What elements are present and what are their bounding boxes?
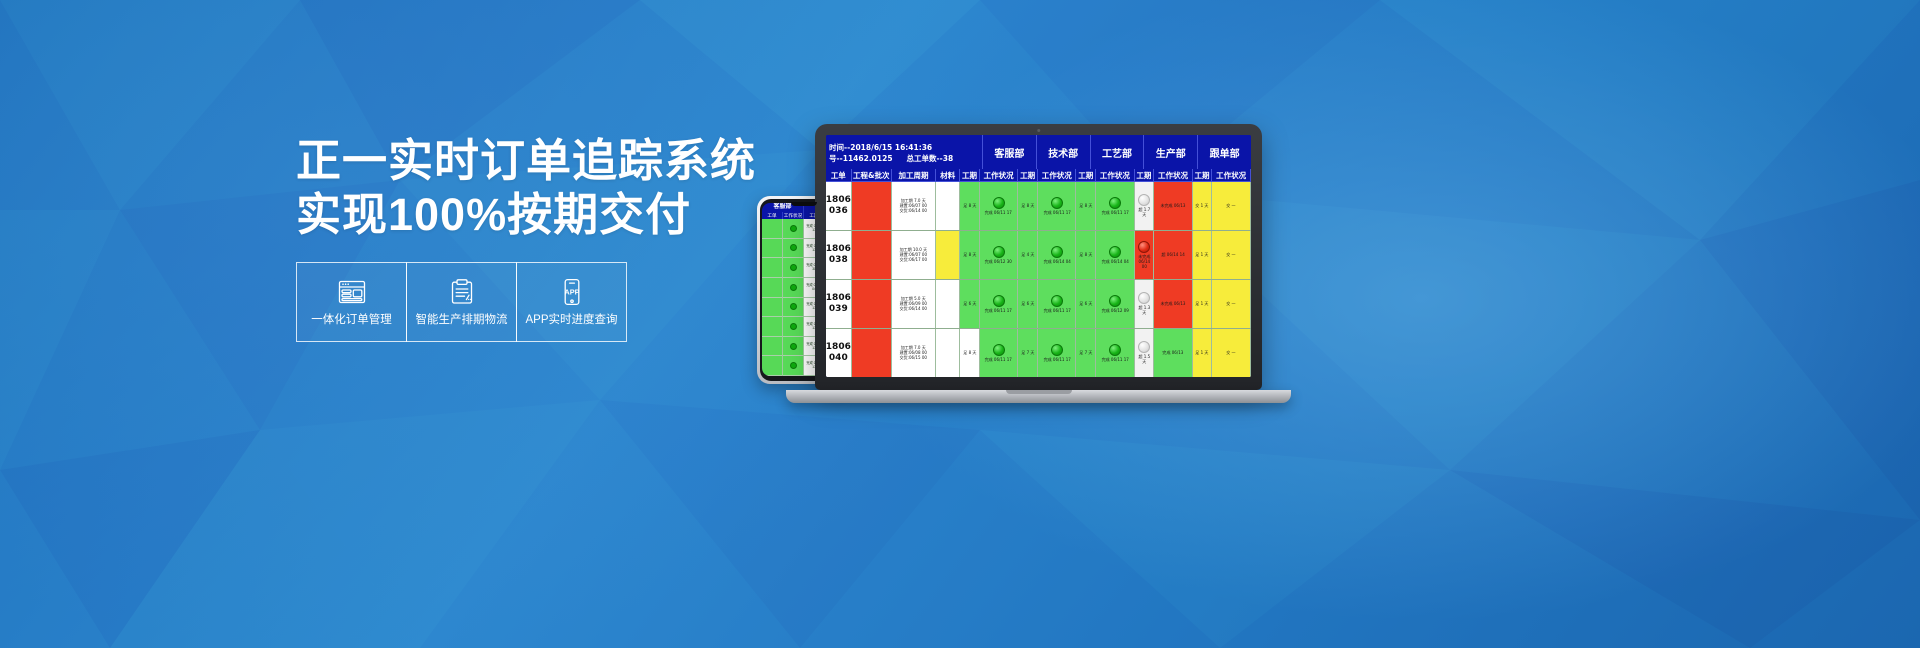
cell-content: 超 1.5 天 [1136,341,1153,364]
cell-material [936,182,960,230]
cell-content: 足 8 天 [961,350,978,355]
cell-dept-2: 足 6 天 [1018,280,1038,328]
phone-cell [762,317,782,337]
phone-column-order [762,219,783,376]
order-number: 1806 036 [826,195,851,217]
table-row[interactable]: 1806 036加工期 7.0 天 建置:06/07 00 交货:06/14 0… [826,182,1251,231]
cell-dept-2: 足 7 天 [1018,329,1038,377]
cell-dept-3: 完成 06/11 17 [1038,280,1076,328]
headline-line-2: 实现100%按期交付 [296,188,716,242]
cell-project-batch [852,280,892,328]
cell-material [936,231,960,279]
dashboard-subheader-13[interactable]: 工作状况 [1212,169,1250,181]
dashboard-subheader-5[interactable]: 工作状况 [980,169,1018,181]
cell-dept-4: 足 8 天 [1076,231,1096,279]
cell-text: 足 8 天 [963,252,976,257]
cell-content: 足 1 天 [1194,350,1211,355]
status-indicator-green [1109,295,1121,307]
cell-project-batch [852,182,892,230]
dashboard-dept-4[interactable]: 跟单部 [1198,135,1251,169]
cell-dept-9: 交 一 [1212,329,1250,377]
status-indicator-red [1138,241,1150,253]
phone-cell [783,219,803,239]
order-number: 1806 040 [826,342,851,364]
cell-dept-6: 超 1.5 天 [1135,329,1155,377]
clipboard-schedule-icon [447,277,477,307]
cell-dept-4: 足 6 天 [1076,280,1096,328]
cell-content: 完成 06/11 17 [1097,344,1132,362]
phone-cell [783,278,803,298]
cell-text: 加工期 10.0 天 建置:06/07 00 交货:06/17 00 [900,247,928,262]
cell-text: 未完成 06/14 00 [1136,254,1152,269]
order-number: 1806 038 [826,244,851,266]
cell-content: 足 4 天 [1019,252,1036,257]
dashboard-subheader-4[interactable]: 工期 [960,169,980,181]
cell-content: 未完成 06/14 00 [1136,241,1153,270]
cell-content: 完成 06/12 09 [1097,295,1132,313]
status-indicator-green [993,344,1005,356]
phone-status-indicator [790,323,797,330]
cell-text: 足 4 天 [1021,252,1034,257]
cell-text: 完成 06/14 04 [1101,259,1128,264]
phone-cell [783,258,803,278]
cell-text: 加工期 5.0 天 建置:06/09 00 交货:06/14 00 [900,296,927,311]
cell-text: 完成 06/11 17 [985,357,1012,362]
feature-card-production-schedule[interactable]: 智能生产排期物流 [406,262,517,342]
cell-order-no: 1806 039 [826,280,852,328]
dashboard-subheader-2[interactable]: 加工周期 [892,169,936,181]
cell-content: 足 7 天 [1019,350,1036,355]
cell-dept-6: 超 1.7 天 [1135,182,1155,230]
cell-cycle: 加工期 10.0 天 建置:06/07 00 交货:06/17 00 [892,231,936,279]
dashboard-subheader-12[interactable]: 工期 [1193,169,1213,181]
cell-text: 完成 06/11 17 [1043,210,1070,215]
cell-text: 足 8 天 [963,350,976,355]
cell-text: 超 1.7 天 [1136,208,1152,218]
cell-content: 足 6 天 [1077,301,1094,306]
cell-content: 完成 06/11 17 [1039,295,1074,313]
cell-dept-1: 完成 06/12 30 [980,231,1018,279]
dashboard-department-row: 客服部 技术部 工艺部 生产部 跟单部 [983,135,1251,169]
cell-project-batch [852,231,892,279]
cell-dept-4: 足 8 天 [1076,182,1096,230]
cell-text: 完成 06/13 [1163,350,1184,355]
promo-banner: 正一实时订单追踪系统 实现100%按期交付 一体化订单管理 [0,0,1920,648]
dashboard-subheader-1[interactable]: 工程&批次 [852,169,892,181]
phone-status-indicator [790,343,797,350]
phone-column-status-a [783,219,804,376]
status-indicator-white [1138,341,1150,353]
status-indicator-green [1051,246,1063,258]
cell-text: 足 7 天 [1021,350,1034,355]
dashboard-table-body: 1806 036加工期 7.0 天 建置:06/07 00 交货:06/14 0… [826,182,1251,377]
feature-card-list: 一体化订单管理 智能生产排期物流 [296,262,627,342]
cell-content: 完成 06/11 17 [981,344,1016,362]
cell-dept-7: 超 06/14 14 [1154,231,1192,279]
cell-dept-7: 未完成 06/13 [1154,280,1192,328]
cell-text: 足 6 天 [963,301,976,306]
cell-dept-3: 完成 06/11 17 [1038,182,1076,230]
cell-text: 完成 06/11 17 [985,210,1012,215]
cell-text: 交 一 [1226,350,1235,355]
cell-dept-3: 完成 06/11 17 [1038,329,1076,377]
dashboard-header: 时间--2018/6/15 16:41:36 号--11462.0125 总工单… [826,135,1251,169]
phone-status-indicator [790,284,797,291]
cell-content: 交 一 [1213,252,1248,257]
webcam-icon [1037,129,1041,133]
dashboard-subheader-7[interactable]: 工作状况 [1038,169,1076,181]
cell-cycle: 加工期 7.0 天 建置:06/07 00 交货:06/14 00 [892,182,936,230]
dashboard-time-label: 时间--2018/6/15 16:41:36 [829,142,982,153]
dashboard-subheader-row: 工单工程&批次加工周期材料工期工作状况工期工作状况工期工作状况工期工作状况工期工… [826,169,1251,182]
cell-dept-8: 足 1 天 [1193,280,1213,328]
cell-dept-5: 完成 06/11 17 [1096,329,1134,377]
phone-cell [762,278,782,298]
cell-dept-7: 完成 06/13 [1154,329,1192,377]
cell-dept-9: 交 一 [1212,231,1250,279]
phone-cell [762,239,782,259]
cell-content: 足 8 天 [1077,252,1094,257]
dashboard-dept-2[interactable]: 工艺部 [1091,135,1145,169]
cell-content: 超 1.3 天 [1136,292,1153,315]
cell-content: 交 一 [1213,350,1248,355]
table-row[interactable]: 1806 038加工期 10.0 天 建置:06/07 00 交货:06/17 … [826,231,1251,280]
svg-text:APP: APP [564,288,579,297]
cell-text: 足 8 天 [1021,203,1034,208]
cell-text: 交 一 [1226,203,1235,208]
cell-content: 未完成 06/13 [1155,203,1190,208]
cell-text: 交 一 [1226,252,1235,257]
cell-content: 完成 06/11 17 [1039,344,1074,362]
cell-text: 未完成 06/13 [1161,203,1186,208]
dashboard-total-label: 总工单数--38 [907,153,954,164]
status-indicator-green [993,295,1005,307]
dashboard-subheader-10[interactable]: 工期 [1135,169,1155,181]
cell-text: 完成 06/14 04 [1043,259,1070,264]
cell-content: 完成 06/11 17 [1097,197,1132,215]
cell-content: 足 1 天 [1194,252,1211,257]
phone-cell [783,298,803,318]
phone-notch [791,202,817,206]
feature-label-app-progress: APP实时进度查询 [525,314,617,327]
cell-content: 未完成 06/13 [1155,301,1190,306]
cell-text: 交 一 [1226,301,1235,306]
status-indicator-white [1138,194,1150,206]
cell-cycle: 加工期 7.0 天 建置:06/08 00 交货:06/15 00 [892,329,936,377]
cell-dept-8: 足 1 天 [1193,329,1213,377]
cell-text: 足 6 天 [1021,301,1034,306]
cell-content: 足 8 天 [1077,203,1094,208]
cell-text: 完成 06/12 09 [1101,308,1128,313]
cell-text: 超 06/14 14 [1161,252,1184,257]
cell-dept-0: 足 8 天 [960,231,980,279]
dashboard-subheader-0[interactable]: 工单 [826,169,852,181]
cell-text: 未完成 06/13 [1161,301,1186,306]
cell-content: 足 8 天 [961,252,978,257]
cell-content: 超 1.7 天 [1136,194,1153,217]
cell-content: 足 1 天 [1194,301,1211,306]
dashboard-subheader-6[interactable]: 工期 [1018,169,1038,181]
cell-material [936,329,960,377]
dashboard-subheader-9[interactable]: 工作状况 [1096,169,1134,181]
cell-content: 交 一 [1213,203,1248,208]
cell-dept-5: 完成 06/14 04 [1096,231,1134,279]
status-indicator-green [1109,197,1121,209]
cell-material [936,280,960,328]
cell-content: 足 8 天 [1019,203,1036,208]
cell-content: 交 一 [1213,301,1248,306]
status-indicator-green [1051,295,1063,307]
cell-dept-7: 未完成 06/13 [1154,182,1192,230]
dashboard-subheader-3[interactable]: 材料 [936,169,960,181]
laptop-lid: 时间--2018/6/15 16:41:36 号--11462.0125 总工单… [815,124,1262,390]
dashboard-dept-1[interactable]: 技术部 [1037,135,1091,169]
cell-content: 足 6 天 [961,301,978,306]
status-indicator-green [993,246,1005,258]
table-row[interactable]: 1806 039加工期 5.0 天 建置:06/09 00 交货:06/14 0… [826,280,1251,329]
cell-content: 足 8 天 [961,203,978,208]
cell-dept-8: 足 1 天 [1193,231,1213,279]
feature-card-app-progress[interactable]: APP APP实时进度查询 [516,262,627,342]
cell-text: 完成 06/11 17 [1101,210,1128,215]
cell-dept-2: 足 4 天 [1018,231,1038,279]
phone-cell [783,356,803,376]
status-indicator-green [993,197,1005,209]
cell-order-no: 1806 038 [826,231,852,279]
phone-status-indicator [790,303,797,310]
cell-content: 完成 06/11 17 [981,295,1016,313]
dashboard-dept-3[interactable]: 生产部 [1144,135,1198,169]
status-indicator-green [1051,197,1063,209]
cell-cycle: 加工期 5.0 天 建置:06/09 00 交货:06/14 00 [892,280,936,328]
cell-text: 完成 06/11 17 [1101,357,1128,362]
phone-status-indicator [790,264,797,271]
feature-label-order-management: 一体化订单管理 [311,314,392,327]
cell-dept-0: 足 8 天 [960,182,980,230]
phone-status-indicator [790,225,797,232]
dashboard-subheader-11[interactable]: 工作状况 [1154,169,1192,181]
status-indicator-white [1138,292,1150,304]
cell-content: 完成 06/11 17 [1039,197,1074,215]
cell-text: 足 8 天 [963,203,976,208]
cell-dept-0: 足 6 天 [960,280,980,328]
phone-cell [783,337,803,357]
order-number: 1806 039 [826,293,851,315]
cell-text: 完成 06/11 17 [1043,308,1070,313]
phone-cell [762,356,782,376]
dashboard-layout-icon [337,277,367,307]
cell-order-no: 1806 036 [826,182,852,230]
feature-label-production-schedule: 智能生产排期物流 [416,314,508,327]
phone-cell [762,258,782,278]
dashboard-subheader-8[interactable]: 工期 [1076,169,1096,181]
cell-content: 完成 06/11 17 [981,197,1016,215]
cell-text: 足 1 天 [1195,301,1208,306]
cell-dept-9: 交 一 [1212,280,1250,328]
mobile-app-icon: APP [557,277,587,307]
cell-dept-0: 足 8 天 [960,329,980,377]
cell-text: 超 1.3 天 [1136,306,1152,316]
cell-dept-6: 超 1.3 天 [1135,280,1155,328]
cell-content: 完成 06/14 04 [1097,246,1132,264]
phone-subheader-1: 工作状况 [783,212,804,219]
cell-content: 超 06/14 14 [1155,252,1190,257]
status-indicator-green [1109,246,1121,258]
cell-text: 足 8 天 [1079,252,1092,257]
headline-line-1: 正一实时订单追踪系统 [296,134,716,188]
phone-cell [762,298,782,318]
feature-card-order-management[interactable]: 一体化订单管理 [296,262,407,342]
cell-dept-1: 完成 06/11 17 [980,329,1018,377]
cell-project-batch [852,329,892,377]
phone-cell [762,219,782,239]
phone-cell [783,317,803,337]
cell-order-no: 1806 040 [826,329,852,377]
phone-subheader-0: 工单 [762,212,783,219]
dashboard-meta: 时间--2018/6/15 16:41:36 号--11462.0125 总工单… [826,135,983,169]
cell-text: 足 6 天 [1079,301,1092,306]
cell-dept-8: 交 1 天 [1193,182,1213,230]
cell-text: 加工期 7.0 天 建置:06/07 00 交货:06/14 00 [900,198,927,213]
phone-status-indicator [790,244,797,251]
status-indicator-green [1109,344,1121,356]
cell-dept-3: 完成 06/14 04 [1038,231,1076,279]
cell-dept-6: 未完成 06/14 00 [1135,231,1155,279]
cell-content: 交 1 天 [1194,203,1211,208]
cell-text: 足 1 天 [1195,252,1208,257]
cell-content: 完成 06/14 04 [1039,246,1074,264]
cell-dept-5: 完成 06/11 17 [1096,182,1134,230]
dashboard-number-label: 号--11462.0125 [829,153,893,164]
cell-text: 足 8 天 [1079,203,1092,208]
cell-text: 超 1.5 天 [1136,355,1152,365]
cell-dept-1: 完成 06/11 17 [980,182,1018,230]
headline-block: 正一实时订单追踪系统 实现100%按期交付 [296,134,716,242]
cell-dept-5: 完成 06/12 09 [1096,280,1134,328]
cell-content: 完成 06/13 [1155,350,1190,355]
cell-text: 完成 06/11 17 [1043,357,1070,362]
dashboard-dept-0[interactable]: 客服部 [983,135,1037,169]
phone-cell [762,337,782,357]
cell-text: 足 7 天 [1079,350,1092,355]
cell-text: 交 1 天 [1195,203,1208,208]
cell-content: 足 6 天 [1019,301,1036,306]
cell-text: 加工期 7.0 天 建置:06/08 00 交货:06/15 00 [900,345,927,360]
cell-content: 足 7 天 [1077,350,1094,355]
cell-dept-1: 完成 06/11 17 [980,280,1018,328]
cell-text: 完成 06/11 17 [985,308,1012,313]
cell-dept-9: 交 一 [1212,182,1250,230]
table-row[interactable]: 1806 040加工期 7.0 天 建置:06/08 00 交货:06/15 0… [826,329,1251,377]
phone-cell [783,239,803,259]
cell-dept-4: 足 7 天 [1076,329,1096,377]
cell-dept-2: 足 8 天 [1018,182,1038,230]
laptop-base [786,390,1291,403]
phone-status-indicator [790,362,797,369]
cell-text: 足 1 天 [1195,350,1208,355]
status-indicator-green [1051,344,1063,356]
laptop-screen: 时间--2018/6/15 16:41:36 号--11462.0125 总工单… [826,135,1251,377]
laptop-mockup: 时间--2018/6/15 16:41:36 号--11462.0125 总工单… [815,124,1291,403]
cell-text: 完成 06/12 30 [985,259,1012,264]
cell-content: 完成 06/12 30 [981,246,1016,264]
